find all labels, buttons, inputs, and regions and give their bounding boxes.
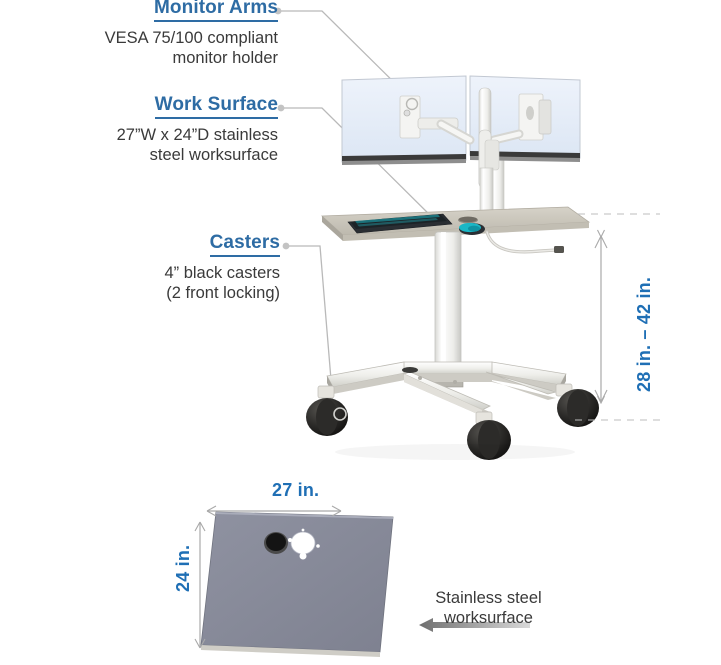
callout-body-work-surface: 27”W x 24”D stainless steel worksurface bbox=[30, 125, 278, 165]
callout-casters: Casters 4” black casters (2 front lockin… bbox=[40, 232, 280, 303]
callout-body-casters: 4” black casters (2 front locking) bbox=[40, 263, 280, 303]
dimension-label-height: 28 in. – 42 in. bbox=[634, 277, 655, 392]
callout-heading-work-surface: Work Surface bbox=[155, 94, 278, 119]
dimension-label-depth: 24 in. bbox=[173, 545, 194, 592]
callout-monitor-arms: Monitor Arms VESA 75/100 compliant monit… bbox=[40, 0, 278, 68]
worksurface-plate-illustration bbox=[201, 512, 393, 657]
worksurface-note: Stainless steel worksurface bbox=[406, 588, 571, 628]
callout-work-surface: Work Surface 27”W x 24”D stainless steel… bbox=[30, 94, 278, 165]
dimension-label-width: 27 in. bbox=[272, 480, 319, 501]
callout-heading-casters: Casters bbox=[210, 232, 280, 257]
callout-body-monitor-arms: VESA 75/100 compliant monitor holder bbox=[40, 28, 278, 68]
product-diagram: Monitor Arms VESA 75/100 compliant monit… bbox=[0, 0, 721, 665]
leader-line-casters bbox=[283, 243, 333, 404]
caster-rear-left bbox=[306, 386, 348, 436]
cart-base bbox=[327, 362, 566, 416]
cart-illustration bbox=[306, 76, 599, 460]
callout-heading-monitor-arms: Monitor Arms bbox=[154, 0, 278, 22]
